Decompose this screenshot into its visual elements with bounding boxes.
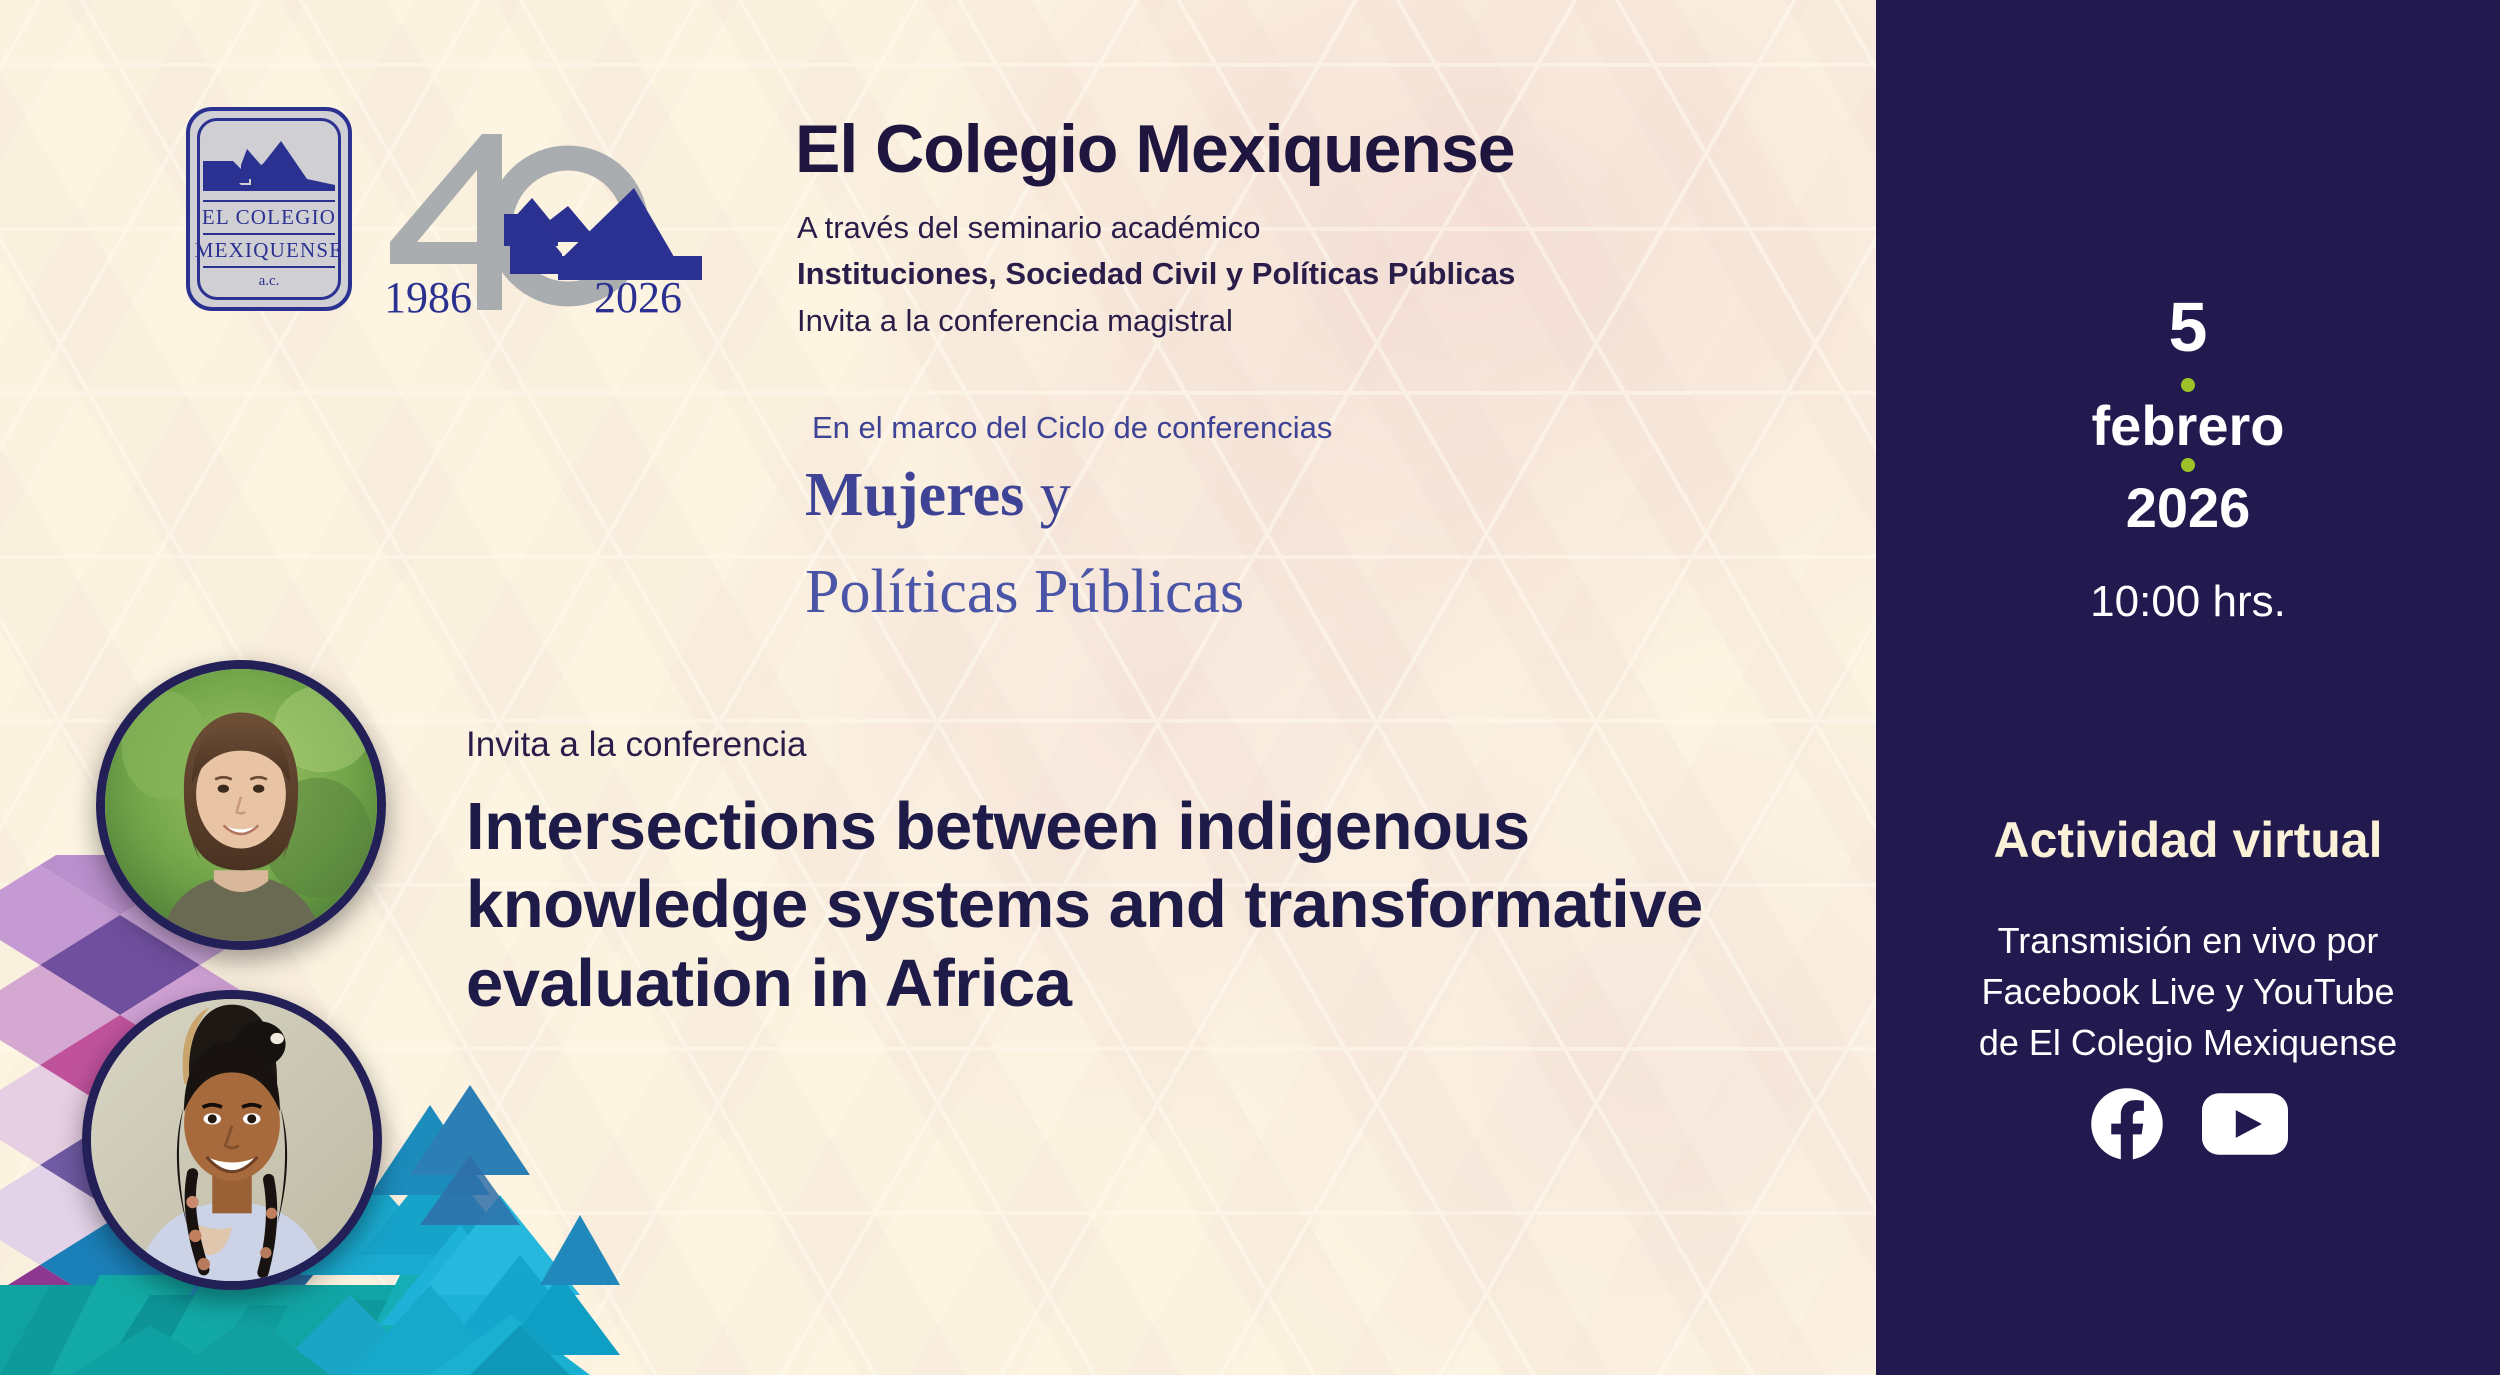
event-day: 5 bbox=[1876, 292, 2500, 362]
logo-line-1: EL COLEGIO bbox=[202, 207, 336, 228]
anniversary-year-end: 2026 bbox=[594, 273, 682, 322]
event-month: febrero bbox=[1876, 398, 2500, 454]
broadcast-line-2: Facebook Live y YouTube bbox=[1876, 966, 2500, 1017]
organization-title: El Colegio Mexiquense bbox=[795, 110, 1515, 188]
broadcast-line-3: de El Colegio Mexiquense bbox=[1876, 1017, 2500, 1068]
logo-line-3: a.c. bbox=[259, 273, 280, 290]
mountain-icon bbox=[203, 139, 335, 197]
cycle-title-conjunction: y bbox=[1040, 461, 1071, 529]
seminar-intro-line: A través del seminario académico bbox=[797, 210, 1261, 246]
event-time: 10:00 hrs. bbox=[1876, 580, 2500, 624]
info-sidebar bbox=[1876, 0, 2500, 1375]
broadcast-line-1: Transmisión en vivo por bbox=[1876, 915, 2500, 966]
virtual-activity-heading: Actividad virtual bbox=[1876, 815, 2500, 865]
event-year: 2026 bbox=[1876, 480, 2500, 536]
social-links bbox=[1876, 1085, 2500, 1163]
date-separator-dot-2 bbox=[1876, 458, 2500, 472]
seminar-name: Instituciones, Sociedad Civil y Política… bbox=[797, 256, 1515, 292]
cycle-kicker: En el marco del Ciclo de conferencias bbox=[812, 410, 1332, 446]
speaker-photo-1 bbox=[105, 669, 377, 941]
cycle-title-line-1: Mujeres y bbox=[805, 460, 1071, 531]
facebook-icon[interactable] bbox=[2088, 1085, 2166, 1163]
cycle-title-bold: Mujeres bbox=[805, 461, 1024, 529]
speaker-portrait-1 bbox=[96, 660, 386, 950]
anniversary-mountain-icon bbox=[504, 188, 702, 280]
anniversary-year-start: 1986 bbox=[384, 273, 472, 322]
logo-line-2: MEXIQUENSE bbox=[195, 240, 344, 261]
youtube-icon[interactable] bbox=[2202, 1093, 2288, 1155]
conference-kicker: Invita a la conferencia bbox=[466, 725, 806, 765]
conference-title: Intersections between indigenous knowled… bbox=[466, 788, 1866, 1023]
logo-divider-top bbox=[203, 200, 335, 202]
speaker-photo-2 bbox=[91, 999, 373, 1281]
college-logo-inner: EL COLEGIO MEXIQUENSE a.c. bbox=[197, 118, 341, 300]
anniversary-40-logo: 1986 2026 bbox=[372, 122, 702, 322]
logo-divider-mid bbox=[203, 233, 335, 235]
cycle-title-line-2: Políticas Públicas bbox=[805, 557, 1244, 628]
speaker-portrait-2 bbox=[82, 990, 382, 1290]
event-poster: EL COLEGIO MEXIQUENSE a.c. 1986 2026 El … bbox=[0, 0, 2500, 1375]
date-separator-dot-1 bbox=[1876, 378, 2500, 392]
college-logo: EL COLEGIO MEXIQUENSE a.c. bbox=[186, 107, 352, 311]
logo-divider-bottom bbox=[203, 266, 335, 268]
invitation-line: Invita a la conferencia magistral bbox=[797, 303, 1233, 339]
broadcast-details: Transmisión en vivo por Facebook Live y … bbox=[1876, 915, 2500, 1068]
